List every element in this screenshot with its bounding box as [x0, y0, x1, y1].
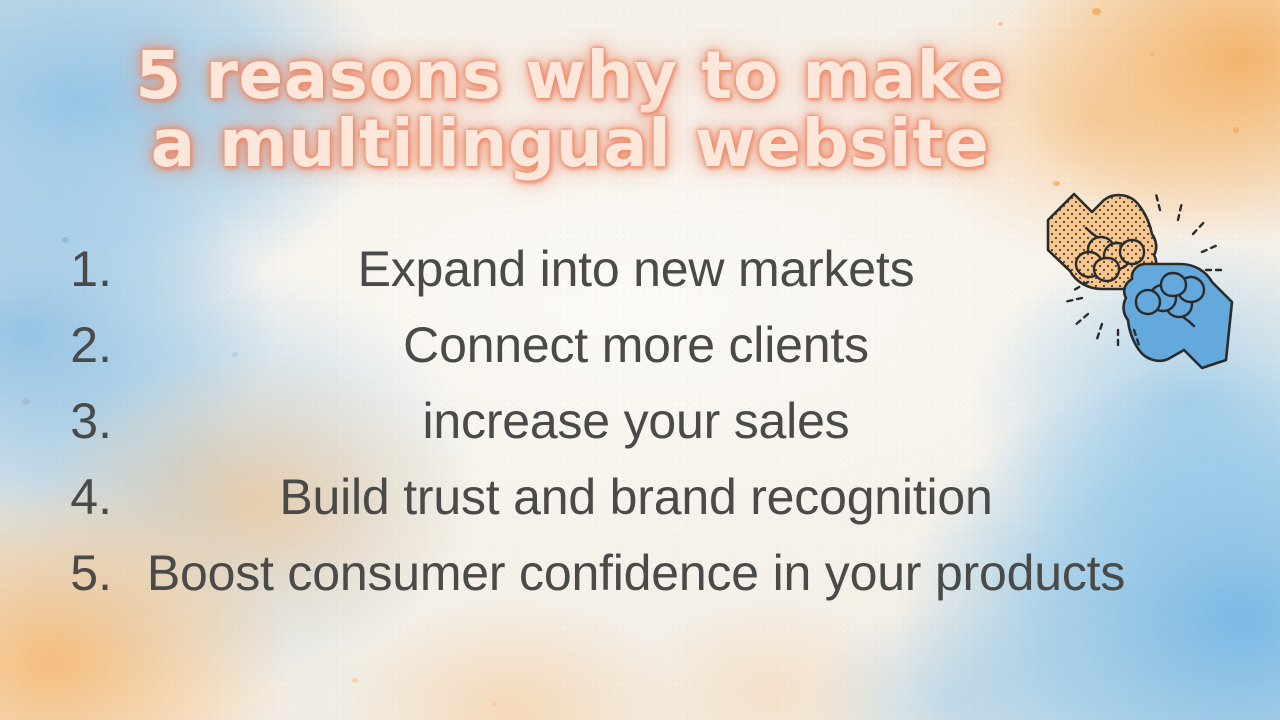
- list-item-text: Expand into new markets: [112, 232, 1160, 306]
- list-item-text: Boost consumer confidence in your produc…: [112, 536, 1160, 610]
- title-line-1: 5 reasons why to make: [0, 42, 1140, 110]
- paint-splatter-dot: [998, 22, 1003, 26]
- slide-canvas: 5 reasons why to make a multilingual web…: [0, 0, 1280, 720]
- reasons-list: 1. Expand into new markets 2. Connect mo…: [0, 232, 1160, 612]
- list-item-number: 2.: [0, 308, 112, 382]
- title-line-2: a multilingual website: [0, 110, 1140, 178]
- slide-title: 5 reasons why to make a multilingual web…: [0, 42, 1140, 178]
- list-item: 5. Boost consumer confidence in your pro…: [0, 536, 1160, 610]
- paint-splatter-dot: [1150, 52, 1155, 56]
- fist-bump-illustration: [1030, 172, 1250, 372]
- list-item-number: 3.: [0, 384, 112, 458]
- list-item: 4. Build trust and brand recognition: [0, 460, 1160, 534]
- list-item-number: 1.: [0, 232, 112, 306]
- paint-splatter-dot: [492, 702, 497, 706]
- list-item: 1. Expand into new markets: [0, 232, 1160, 306]
- list-item-text: Connect more clients: [112, 308, 1160, 382]
- list-item-text: increase your sales: [112, 384, 1160, 458]
- list-item-number: 4.: [0, 460, 112, 534]
- paint-splatter-dot: [1233, 127, 1239, 133]
- list-item: 3. increase your sales: [0, 384, 1160, 458]
- paint-splatter-dot: [352, 678, 358, 683]
- list-item-number: 5.: [0, 536, 112, 610]
- list-item: 2. Connect more clients: [0, 308, 1160, 382]
- blue-fist-icon: [1124, 264, 1232, 368]
- list-item-text: Build trust and brand recognition: [112, 460, 1160, 534]
- paint-splatter-dot: [1092, 8, 1101, 15]
